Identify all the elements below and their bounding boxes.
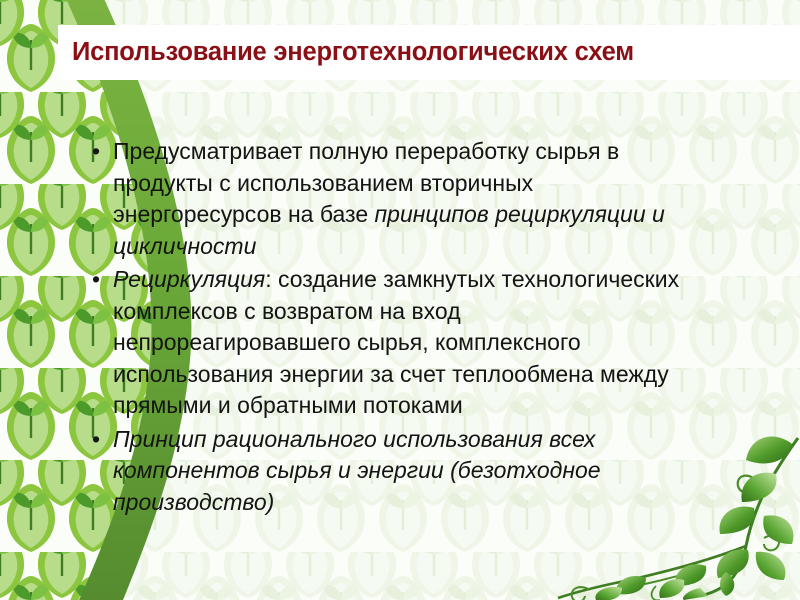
bullet-marker: • [92, 424, 100, 456]
list-item: • Рециркуляция: создание замкнутых техно… [88, 264, 688, 422]
list-item: • Принцип рационального использования вс… [88, 424, 688, 519]
bullet-segment-italic: Рециркуляция [113, 266, 265, 292]
bullet-marker: • [92, 264, 100, 296]
bullet-list: • Предусматривает полную переработку сыр… [88, 136, 688, 520]
bullet-text: Принцип рационального использования всех… [113, 424, 688, 519]
bullet-text: Предусматривает полную переработку сырья… [113, 136, 688, 262]
bullet-marker: • [92, 136, 100, 168]
slide: Использование энерготехнологических схем… [0, 0, 800, 600]
list-item: • Предусматривает полную переработку сыр… [88, 136, 688, 262]
page-title: Использование энерготехнологических схем [72, 31, 792, 73]
bullet-text: Рециркуляция: создание замкнутых техноло… [113, 264, 688, 422]
bullet-segment-italic: Принцип рационального использования всех… [113, 426, 601, 515]
